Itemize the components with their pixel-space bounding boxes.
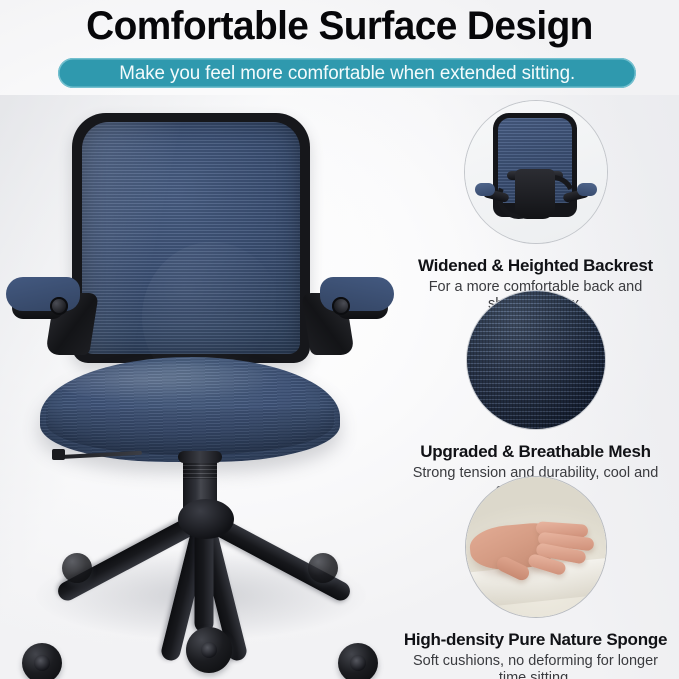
seat-front-lip (46, 409, 334, 455)
caster-wheel-center (201, 642, 217, 658)
caster-wheel (186, 627, 232, 673)
armrest-right-pivot (332, 297, 350, 315)
seat-highlight (58, 363, 278, 403)
feature-description: Soft cushions, no deforming for longer t… (392, 653, 679, 679)
base-hub (178, 499, 234, 539)
feature-item-sponge: High-density Pure Nature Sponge Soft cus… (392, 476, 679, 671)
chair-seat-cushion (40, 357, 340, 462)
chair-five-star-base (10, 495, 390, 675)
caster-wheel (308, 553, 338, 583)
feature-title: Widened & Heighted Backrest (392, 256, 679, 276)
armrest-right (298, 277, 394, 355)
back-view-armrest-left-pad (475, 183, 495, 196)
feature-title: High-density Pure Nature Sponge (392, 630, 679, 650)
back-view-armrest-left (475, 183, 509, 213)
subtitle-pill-text: Make you feel more comfortable when exte… (119, 64, 575, 83)
height-adjust-lever-knob (52, 449, 65, 460)
back-view-armrest-right (563, 183, 597, 213)
armrest-left-pad-shadow (6, 277, 80, 311)
caster-wheel-center (34, 655, 50, 671)
chair-backrest (72, 113, 310, 363)
back-view-armrest-right-pad (577, 183, 597, 196)
subtitle-pill: Make you feel more comfortable when exte… (58, 58, 636, 88)
feature-title: Upgraded & Breathable Mesh (392, 442, 679, 462)
feature-item-backrest: Widened & Heighted Backrest For a more c… (392, 100, 679, 290)
caster-wheel (22, 643, 62, 679)
product-infographic: Comfortable Surface Design Make you feel… (0, 0, 679, 679)
chair-back-view-icon (464, 100, 608, 244)
backrest-mesh-surface (82, 122, 300, 354)
gas-cylinder-cap (178, 451, 222, 463)
armrest-left (6, 277, 102, 355)
caster-wheel (338, 643, 378, 679)
feature-list: Widened & Heighted Backrest For a more c… (392, 100, 679, 675)
header: Comfortable Surface Design Make you feel… (0, 0, 679, 95)
chair-photo (0, 95, 400, 679)
caster-wheel (62, 553, 92, 583)
hand-pressing-foam-icon (465, 476, 607, 618)
caster-wheel-center (350, 655, 366, 671)
feature-item-mesh: Upgraded & Breathable Mesh Strong tensio… (392, 290, 679, 476)
mesh-texture (467, 291, 605, 429)
mesh-fabric-closeup-icon (466, 290, 606, 430)
page-title: Comfortable Surface Design (10, 4, 669, 48)
back-view-lumbar-support (515, 169, 555, 219)
armrest-left-pivot (50, 297, 68, 315)
